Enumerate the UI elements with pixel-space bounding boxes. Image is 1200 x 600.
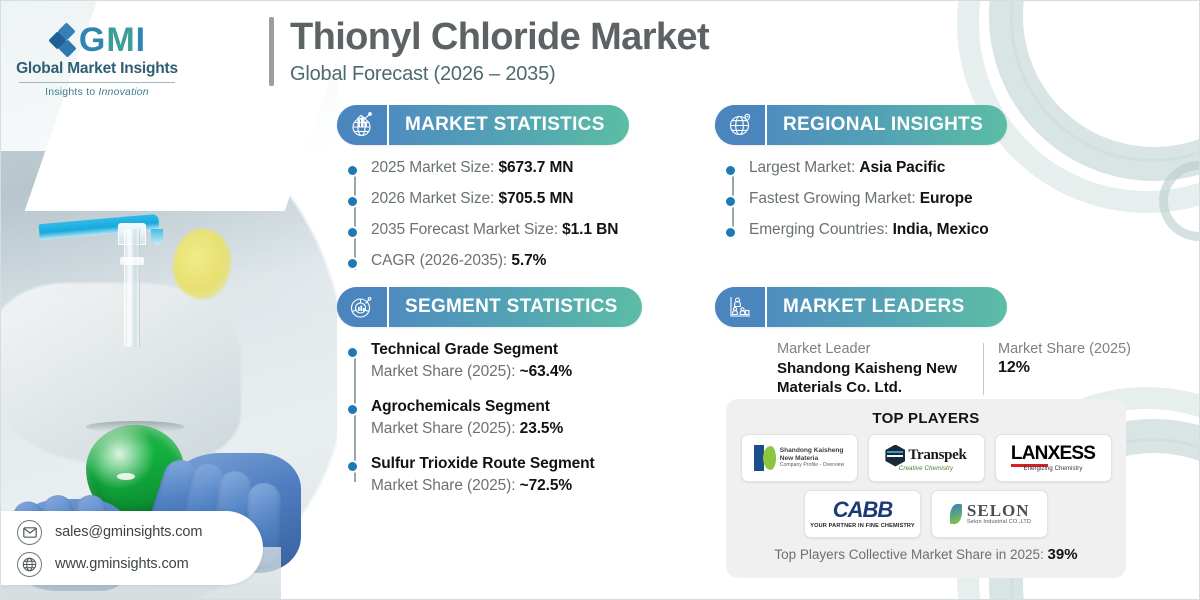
contact-website-row[interactable]: www.gminsights.com (17, 552, 263, 577)
market-leaders-header: MARKET LEADERS (715, 287, 1007, 327)
list-item-text: Agrochemicals Segment Market Share (2025… (371, 398, 563, 438)
logo-tagline: YOUR PARTNER IN FINE CHEMISTRY (810, 523, 915, 529)
player-logo-lanxess[interactable]: LANXESS Energizing Chemistry (995, 434, 1112, 482)
item-label: Emerging Countries: (749, 221, 893, 238)
list-item: Fastest Growing Market: Europe (749, 190, 1007, 208)
brand-name: Global Market Insights (11, 60, 183, 78)
top-players-card: TOP PLAYERS Shandong Kaisheng New Materi… (726, 399, 1126, 578)
flask-highlight (117, 473, 135, 480)
market-leader-label: Market Leader (777, 341, 983, 357)
globe-pin-icon (715, 105, 767, 145)
contact-website: www.gminsights.com (55, 556, 189, 572)
logo-line-3: Company Profile - Overview (780, 463, 845, 469)
list-item: 2026 Market Size: $705.5 MN (371, 190, 629, 208)
market-statistics-header: MARKET STATISTICS (337, 105, 629, 145)
logo-line-1: Shandong Kaisheng (780, 447, 845, 454)
list-item-text: 2025 Market Size: $673.7 MN (371, 159, 573, 177)
list-item: CAGR (2026-2035): 5.7% (371, 252, 629, 270)
item-label: Market Share (2025): (371, 477, 520, 494)
regional-insights-header: REGIONAL INSIGHTS (715, 105, 1007, 145)
shandong-kaisheng-mark-icon (754, 445, 776, 471)
list-bullet (726, 197, 735, 206)
list-item: Emerging Countries: India, Mexico (749, 221, 1007, 239)
globe-icon (17, 552, 42, 577)
list-bullet (348, 462, 357, 471)
player-logo-shandong-kaisheng[interactable]: Shandong Kaisheng New Materia Company Pr… (741, 434, 858, 482)
gmi-diamond-logo-icon (50, 23, 76, 57)
list-item: Technical Grade Segment Market Share (20… (371, 341, 642, 381)
market-leader-name: Shandong Kaisheng New Materials Co. Ltd. (777, 359, 983, 397)
logo-letter-g: G (79, 23, 104, 57)
list-item: Agrochemicals Segment Market Share (2025… (371, 398, 642, 438)
market-statistics-title: MARKET STATISTICS (389, 114, 605, 136)
item-heading: Technical Grade Segment (371, 341, 572, 359)
segment-statistics-list: Technical Grade Segment Market Share (20… (337, 341, 642, 495)
pipette-tip (151, 229, 163, 245)
list-item-text: Technical Grade Segment Market Share (20… (371, 341, 572, 381)
item-label: 2035 Forecast Market Size: (371, 221, 562, 238)
decorative-arc-middle-right (1159, 161, 1200, 241)
logo-divider (19, 82, 175, 83)
page-title: Thionyl Chloride Market (290, 17, 709, 58)
market-statistics-list: 2025 Market Size: $673.7 MN 2026 Market … (337, 159, 629, 270)
decorative-arc-top-right-inner (1010, 0, 1200, 162)
page-subtitle: Global Forecast (2026 – 2035) (290, 63, 709, 86)
list-item-text: Fastest Growing Market: Europe (749, 190, 973, 208)
leader-divider (983, 343, 984, 395)
section-market-leaders: MARKET LEADERS Market Leader Shandong Ka… (715, 287, 1131, 397)
item-heading: Sulfur Trioxide Route Segment (371, 455, 595, 473)
top-players-footer-value: 39% (1048, 546, 1078, 563)
section-market-statistics: MARKET STATISTICS 2025 Market Size: $673… (337, 105, 629, 270)
logo-wordmark: LANXESS (1011, 444, 1095, 463)
lanxess-part-1: LAN (1011, 443, 1048, 467)
item-value: ~63.4% (520, 363, 572, 380)
list-bullet (348, 259, 357, 268)
logo-tagline: Energizing Chemistry (1011, 466, 1095, 472)
flask-neck (124, 229, 140, 347)
infographic-canvas: G M I Global Market Insights Insights to… (0, 0, 1200, 600)
item-value: India, Mexico (893, 221, 989, 238)
brand-tagline: Insights to Innovation (11, 86, 183, 98)
donut-chart-icon (337, 287, 389, 327)
logo-wordmark: CABB (810, 499, 915, 521)
item-value: Asia Pacific (859, 159, 945, 176)
tagline-prefix: Insights to (45, 86, 98, 98)
segment-statistics-title: SEGMENT STATISTICS (389, 296, 618, 318)
contact-email: sales@gminsights.com (55, 524, 202, 540)
logo-wordmark: Transpek (908, 447, 966, 464)
logo-wordmark: SELON (967, 502, 1031, 520)
list-spine (354, 166, 356, 270)
list-item-text: Sulfur Trioxide Route Segment Market Sha… (371, 455, 595, 495)
item-value: $1.1 BN (562, 221, 618, 238)
transpek-hexagon-icon (885, 445, 905, 467)
selon-swoosh-icon (948, 503, 964, 525)
item-label: Largest Market: (749, 159, 859, 176)
contact-email-row[interactable]: sales@gminsights.com (17, 520, 263, 545)
title-accent-bar (269, 17, 274, 86)
top-players-footer-label: Top Players Collective Market Share in 2… (774, 547, 1047, 562)
market-share-label: Market Share (2025) (998, 341, 1131, 357)
list-item: 2025 Market Size: $673.7 MN (371, 159, 629, 177)
item-label: Market Share (2025): (371, 363, 520, 380)
gmi-logo-mark: G M I (11, 23, 183, 57)
market-leaders-title: MARKET LEADERS (767, 296, 965, 318)
item-label: 2025 Market Size: (371, 159, 498, 176)
list-item-text: Largest Market: Asia Pacific (749, 159, 945, 177)
segment-statistics-header: SEGMENT STATISTICS (337, 287, 642, 327)
top-players-logo-row-1: Shandong Kaisheng New Materia Company Pr… (740, 434, 1112, 482)
gmi-logo[interactable]: G M I Global Market Insights Insights to… (11, 23, 183, 98)
item-value: 5.7% (511, 252, 546, 269)
list-bullet (348, 228, 357, 237)
market-share-value: 12% (998, 359, 1131, 377)
list-bullet (348, 348, 357, 357)
decorative-arc-top-right-mid (989, 0, 1200, 181)
list-item-text: 2026 Market Size: $705.5 MN (371, 190, 573, 208)
item-label: Fastest Growing Market: (749, 190, 920, 207)
item-value: Europe (920, 190, 973, 207)
item-value: 23.5% (520, 420, 563, 437)
tagline-italic: Innovation (98, 86, 148, 98)
page-title-block: Thionyl Chloride Market Global Forecast … (269, 17, 709, 86)
list-item-text: Emerging Countries: India, Mexico (749, 221, 989, 239)
logo-line-2: New Materia (780, 455, 845, 462)
list-bullet (348, 197, 357, 206)
logo-letter-m: M (106, 23, 133, 57)
top-players-title: TOP PLAYERS (740, 410, 1112, 427)
player-logo-cabb[interactable]: CABB YOUR PARTNER IN FINE CHEMISTRY (804, 490, 921, 538)
list-item: Largest Market: Asia Pacific (749, 159, 1007, 177)
section-segment-statistics: SEGMENT STATISTICS Technical Grade Segme… (337, 287, 642, 495)
list-bullet (726, 166, 735, 175)
globe-bar-chart-icon (337, 105, 389, 145)
item-value: $673.7 MN (498, 159, 573, 176)
list-item-text: CAGR (2026-2035): 5.7% (371, 252, 546, 270)
item-value: $705.5 MN (498, 190, 573, 207)
list-bullet (348, 405, 357, 414)
item-value: ~72.5% (520, 477, 572, 494)
regional-insights-title: REGIONAL INSIGHTS (767, 114, 983, 136)
top-players-footer: Top Players Collective Market Share in 2… (740, 546, 1112, 563)
market-leader-block: Market Leader Shandong Kaisheng New Mate… (777, 341, 983, 397)
list-item: 2035 Forecast Market Size: $1.1 BN (371, 221, 629, 239)
flask-collar (120, 257, 144, 265)
logo-letter-i: I (136, 23, 144, 57)
market-share-block: Market Share (2025) 12% (998, 341, 1131, 397)
item-label: 2026 Market Size: (371, 190, 498, 207)
envelope-icon (17, 520, 42, 545)
lanxess-part-2: XESS (1048, 443, 1096, 464)
contact-footer: sales@gminsights.com www.gminsights.com (0, 511, 263, 585)
item-heading: Agrochemicals Segment (371, 398, 563, 416)
top-players-logo-row-2: CABB YOUR PARTNER IN FINE CHEMISTRY SELO… (740, 490, 1112, 538)
list-item: Sulfur Trioxide Route Segment Market Sha… (371, 455, 642, 495)
player-logo-selon[interactable]: SELON Selon Industrial CO.,LTD (931, 490, 1048, 538)
logo-tagline: Creative Chemistry (899, 465, 953, 472)
podium-leaderboard-icon (715, 287, 767, 327)
logo-tagline: Selon Industrial CO.,LTD (967, 520, 1031, 526)
item-label: CAGR (2026-2035): (371, 252, 511, 269)
list-bullet (726, 228, 735, 237)
market-leader-details: Market Leader Shandong Kaisheng New Mate… (715, 341, 1131, 397)
regional-insights-list: Largest Market: Asia Pacific Fastest Gro… (715, 159, 1007, 239)
list-item-text: 2035 Forecast Market Size: $1.1 BN (371, 221, 618, 239)
player-logo-transpek[interactable]: Transpek Creative Chemistry (868, 434, 985, 482)
item-label: Market Share (2025): (371, 420, 520, 437)
list-bullet (348, 166, 357, 175)
section-regional-insights: REGIONAL INSIGHTS Largest Market: Asia P… (715, 105, 1007, 239)
